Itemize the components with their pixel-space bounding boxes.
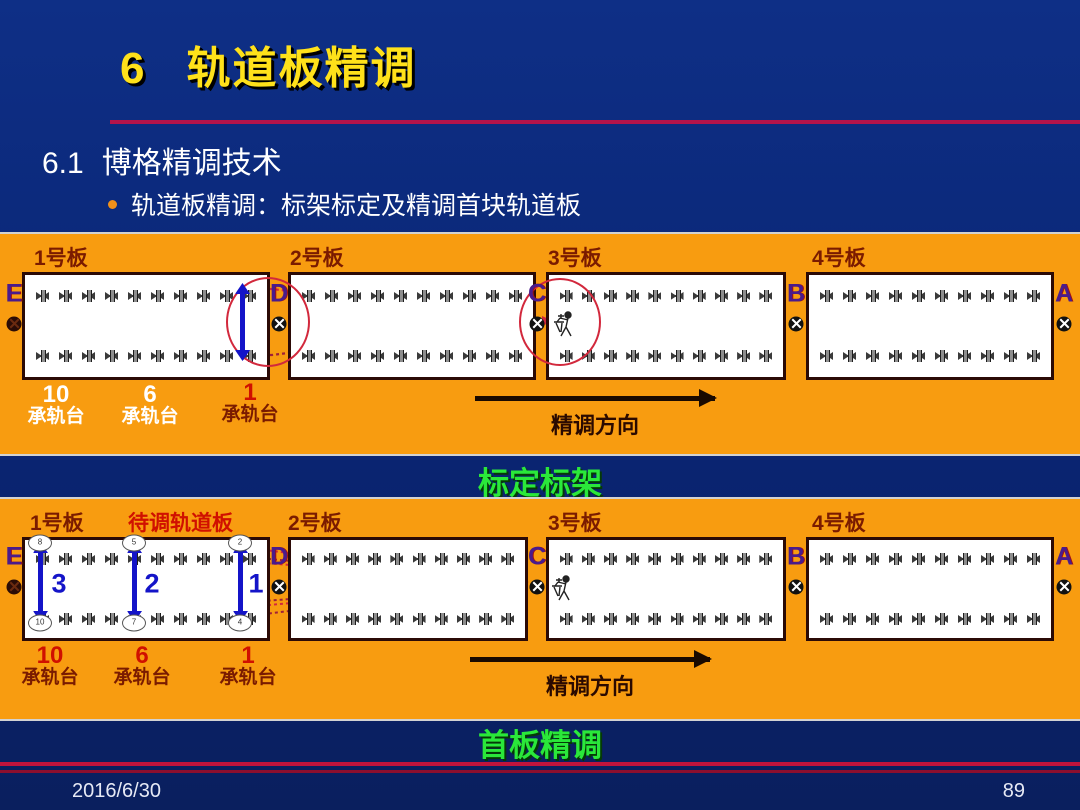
title-text: 轨道板精调	[186, 44, 416, 93]
plate-label-4: 4号板	[812, 242, 866, 272]
control-point-label-d: D	[270, 280, 288, 309]
counter-number: 1	[221, 380, 278, 405]
counter-10: 10 承轨台	[21, 643, 78, 689]
plate-label-2: 2号板	[288, 507, 342, 537]
direction-label: 精调方向	[475, 408, 715, 440]
fastener-row-bottom	[297, 612, 519, 626]
page-title: 6轨道板精调	[120, 32, 416, 96]
bar-top-circle-2: 5	[122, 535, 146, 552]
fastener-row-bottom	[815, 349, 1045, 363]
counter-6: 6 承轨台	[121, 382, 178, 428]
measuring-bar-number-1: 1	[248, 569, 263, 600]
direction-indicator: 精调方向	[470, 657, 710, 701]
bullet-dot-icon	[108, 200, 117, 209]
plate-label-4: 4号板	[812, 507, 866, 537]
fastener-row-bottom	[555, 612, 777, 626]
control-point-marker-a	[1057, 580, 1072, 595]
counter-6: 6 承轨台	[113, 643, 170, 689]
track-plate-4	[806, 272, 1054, 380]
bar-bottom-circle-3: 10	[28, 615, 52, 632]
caption-first-plate: 首板精调	[0, 720, 1080, 765]
fastener-row-top	[297, 289, 527, 303]
plate-label-1: 1号板	[34, 242, 88, 272]
counter-number: 10	[21, 643, 78, 668]
footer-page-number: 89	[1003, 780, 1025, 803]
fastener-row-bottom	[815, 612, 1045, 626]
counter-number: 1	[219, 643, 276, 668]
control-point-marker-c	[530, 317, 545, 332]
control-point-marker-c	[530, 580, 545, 595]
measuring-bar-2	[132, 547, 137, 617]
control-point-label-b: B	[787, 543, 805, 572]
fastener-row-bottom	[297, 349, 527, 363]
surveyor-total-station-icon	[552, 310, 582, 344]
bar-bottom-circle-2: 7	[122, 615, 146, 632]
footer-divider-top	[0, 762, 1080, 766]
control-point-marker-e	[7, 580, 22, 595]
measuring-bar-3	[38, 547, 43, 617]
bar-bottom-circle-1: 4	[228, 615, 252, 632]
fastener-row-top	[815, 289, 1045, 303]
control-point-label-a: A	[1055, 543, 1073, 572]
counter-10: 10 承轨台	[27, 382, 84, 428]
fastener-row-top	[815, 552, 1045, 566]
plate-label-3: 3号板	[548, 507, 602, 537]
fastener-row-top	[297, 552, 519, 566]
control-point-label-a: A	[1055, 280, 1073, 309]
direction-arrow-icon	[475, 396, 715, 401]
fastener-row-bottom	[31, 612, 261, 626]
control-point-label-d: D	[270, 543, 288, 572]
control-point-marker-b	[789, 580, 804, 595]
control-point-marker-b	[789, 317, 804, 332]
fastener-row-top	[555, 552, 777, 566]
surveyor-total-station-icon	[550, 574, 580, 608]
control-point-marker-d	[272, 317, 287, 332]
plate-label-2: 2号板	[290, 242, 344, 272]
counter-number: 6	[113, 643, 170, 668]
slide-root: 6轨道板精调 6.1博格精调技术 轨道板精调：标架标定及精调首块轨道板 1号板 …	[0, 0, 1080, 810]
counter-label: 承轨台	[27, 407, 84, 428]
counter-1: 1 承轨台	[221, 380, 278, 426]
control-point-label-e: E	[6, 280, 23, 309]
title-divider	[110, 120, 1080, 124]
direction-indicator: 精调方向	[475, 396, 715, 440]
counter-label: 承轨台	[121, 407, 178, 428]
direction-label: 精调方向	[470, 669, 710, 701]
fastener-row-bottom	[31, 349, 261, 363]
track-plate-2	[288, 537, 528, 641]
counter-label: 承轨台	[221, 405, 278, 426]
track-plate-4	[806, 537, 1054, 641]
plate-label-1: 1号板	[30, 507, 84, 537]
control-point-marker-d	[272, 580, 287, 595]
section-heading: 6.1博格精调技术	[42, 138, 282, 182]
control-point-label-c: C	[528, 543, 546, 572]
bar-top-circle-1: 2	[228, 535, 252, 552]
pending-plate-label: 待调轨道板	[128, 507, 233, 537]
control-point-label-c: C	[528, 280, 546, 309]
bullet-text: 轨道板精调：标架标定及精调首块轨道板	[131, 186, 581, 222]
footer-date: 2016/6/30	[72, 780, 161, 803]
fastener-row-top	[31, 552, 261, 566]
measuring-bar-panel1	[240, 288, 245, 356]
track-plate-3	[546, 537, 786, 641]
control-point-marker-e	[7, 317, 22, 332]
section-text: 博格精调技术	[102, 147, 282, 180]
section-number: 6.1	[42, 147, 84, 180]
fastener-row-top	[31, 289, 261, 303]
counter-label: 承轨台	[21, 668, 78, 689]
counter-label: 承轨台	[113, 668, 170, 689]
control-point-label-e: E	[6, 543, 23, 572]
direction-arrow-icon	[470, 657, 710, 662]
measuring-bar-number-3: 3	[51, 569, 66, 600]
measuring-bar-number-2: 2	[144, 569, 159, 600]
measuring-bar-1	[238, 547, 243, 617]
bar-top-circle-3: 8	[28, 535, 52, 552]
counter-number: 10	[27, 382, 84, 407]
control-point-label-b: B	[787, 280, 805, 309]
track-plate-2	[288, 272, 536, 380]
counter-1: 1 承轨台	[219, 643, 276, 689]
counter-number: 6	[121, 382, 178, 407]
diagram-panel-first-plate: 1号板 待调轨道板 2号板 3号板 4号板	[0, 497, 1080, 721]
footer-divider-bottom	[0, 770, 1080, 773]
bullet-row: 轨道板精调：标架标定及精调首块轨道板	[108, 186, 581, 222]
counter-label: 承轨台	[219, 668, 276, 689]
diagram-panel-calibration: 1号板 2号板 3号板 4号板	[0, 232, 1080, 456]
plate-label-3: 3号板	[548, 242, 602, 272]
title-number: 6	[120, 44, 146, 93]
control-point-marker-a	[1057, 317, 1072, 332]
